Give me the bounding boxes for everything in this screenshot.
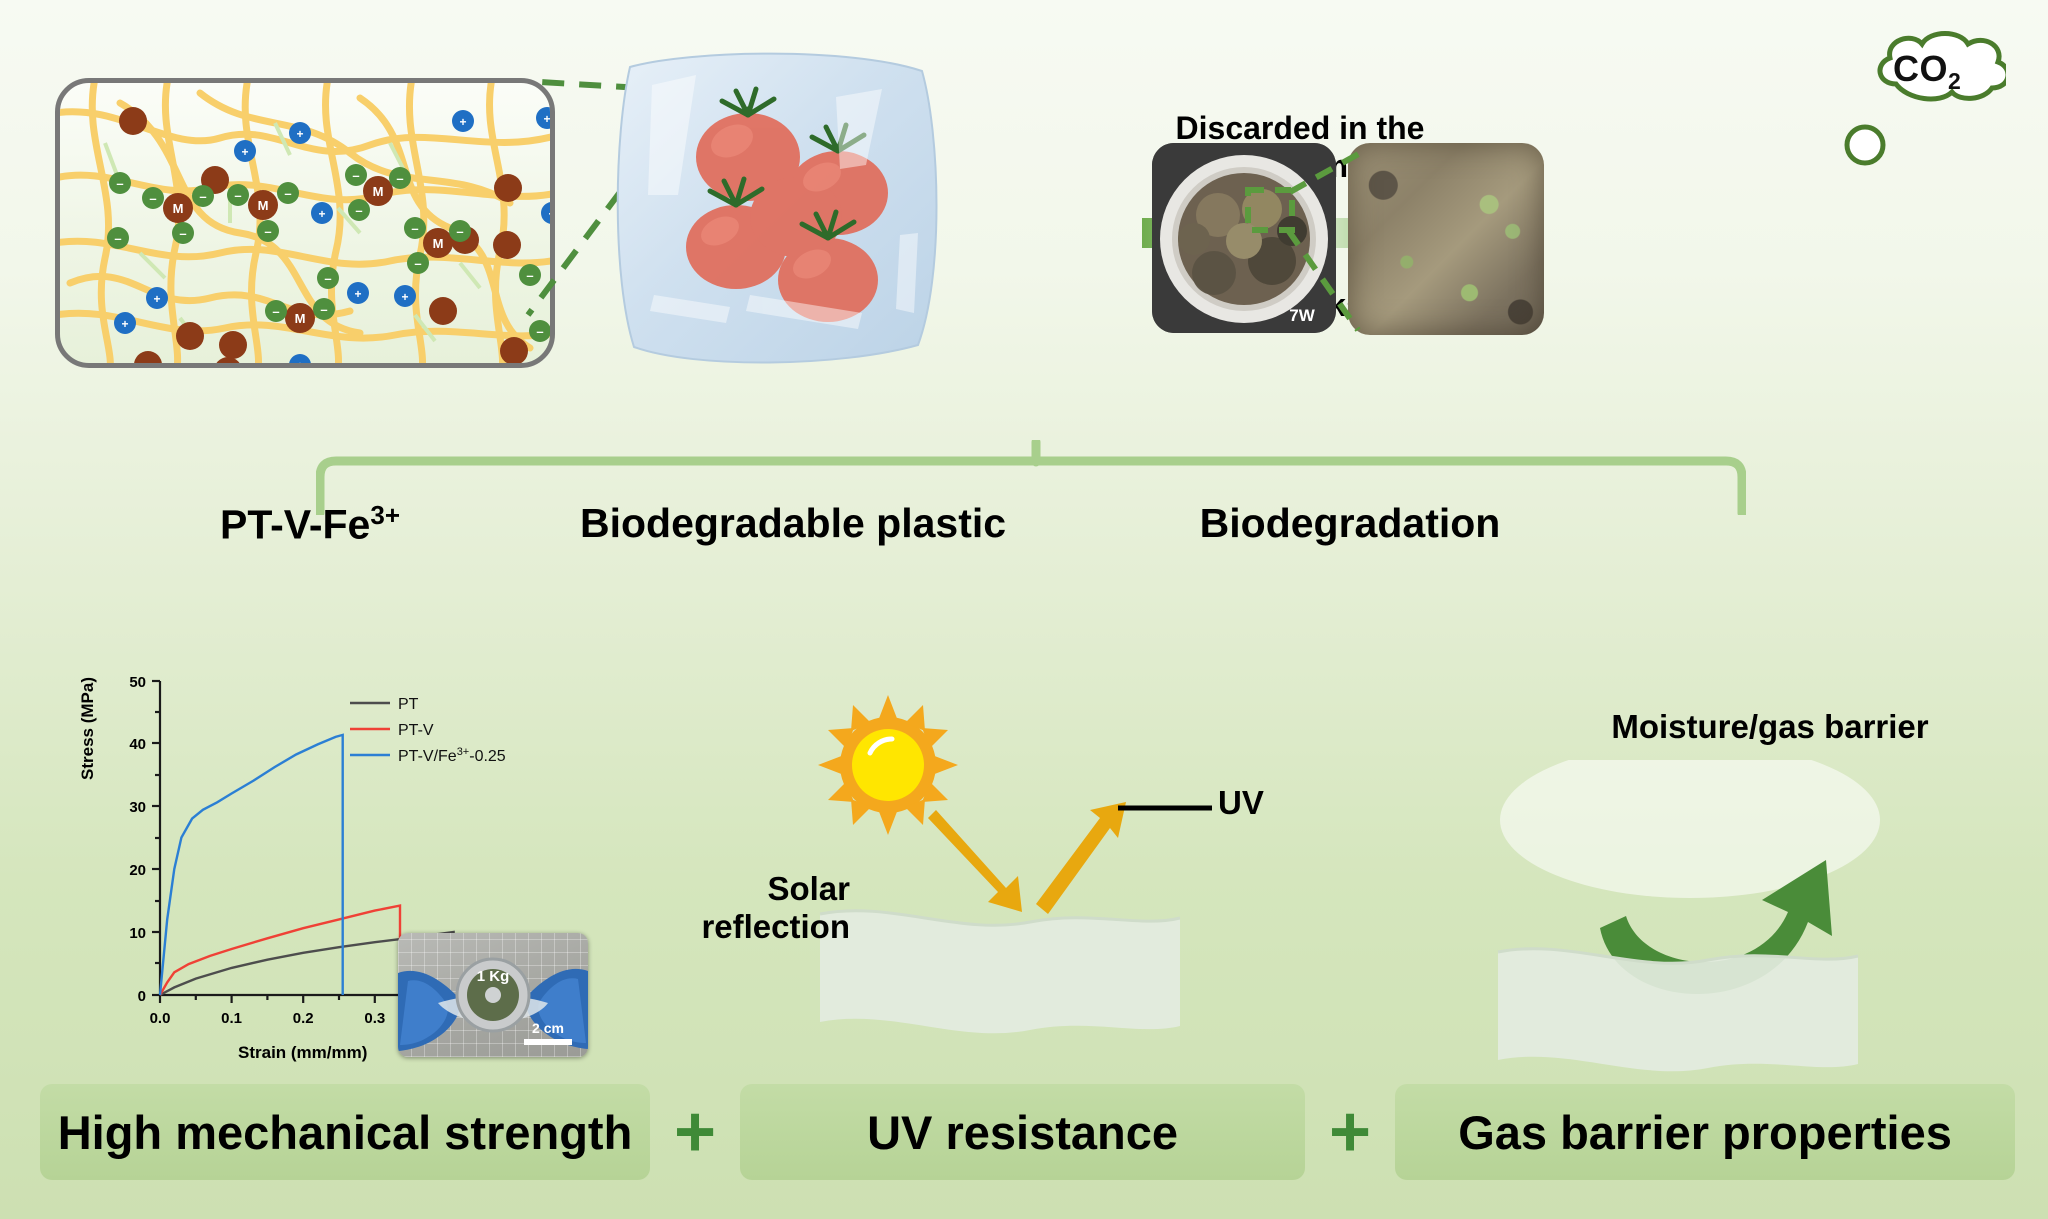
zoom-connector-right <box>1230 150 1400 340</box>
svg-text:0.1: 0.1 <box>221 1010 242 1025</box>
moisture-gas-barrier-label: Moisture/gas barrier <box>1520 708 2020 746</box>
svg-text:–: – <box>149 191 156 206</box>
chart-inset-photo: 1 Kg 2 cm <box>398 933 588 1057</box>
solar-reflection-label: Solar reflection <box>600 870 850 947</box>
svg-text:+: + <box>153 292 160 306</box>
svg-text:–: – <box>355 203 362 218</box>
svg-text:PT-V: PT-V <box>398 722 434 739</box>
svg-text:–: – <box>284 186 291 201</box>
svg-text:–: – <box>396 171 403 186</box>
svg-text:+: + <box>318 207 325 221</box>
network-structure-panel: M – – – M – – – M – – – M – – – M – – <box>55 78 555 368</box>
svg-text:–: – <box>320 302 327 317</box>
svg-text:–: – <box>324 271 331 286</box>
svg-text:+: + <box>296 127 303 141</box>
svg-text:10: 10 <box>129 925 146 942</box>
incoming-ray-arrow <box>928 810 1022 912</box>
svg-text:0.0: 0.0 <box>150 1010 171 1025</box>
svg-text:+: + <box>296 359 303 368</box>
gas-barrier-illustration: Moisture/gas barrier <box>1440 660 2000 1040</box>
tomato-bag-illustration <box>600 45 960 375</box>
svg-text:30: 30 <box>129 799 146 816</box>
co2-bubble-small-icon <box>1842 122 1888 168</box>
svg-text:0.3: 0.3 <box>364 1010 385 1025</box>
series-ptvfe-line <box>160 735 343 995</box>
svg-text:–: – <box>199 189 206 204</box>
plus-icon-2: + <box>1329 1107 1371 1157</box>
network-diagram: M – – – M – – – M – – – M – – – M – – <box>60 83 555 368</box>
svg-text:+: + <box>354 287 361 301</box>
svg-text:PT: PT <box>398 696 419 713</box>
co2-label: CO2 <box>1893 48 1961 95</box>
svg-text:M: M <box>433 236 444 251</box>
svg-text:M: M <box>258 198 269 213</box>
chart-ylabel: Stress (MPa) <box>78 677 98 780</box>
svg-text:–: – <box>234 188 241 203</box>
svg-text:0.2: 0.2 <box>293 1010 314 1025</box>
svg-text:–: – <box>272 304 279 319</box>
svg-text:–: – <box>116 176 123 191</box>
plus-icon-1: + <box>674 1107 716 1157</box>
bracket-stem <box>996 440 1076 480</box>
benefit-uv-resistance: UV resistance <box>740 1084 1305 1180</box>
series-ptv-line <box>160 906 400 995</box>
stress-strain-chart: 01020 304050 0.00.10.2 0.30.40.5 PT PT-V… <box>98 665 538 1025</box>
benefits-row: High mechanical strength + UV resistance… <box>40 1078 2015 1186</box>
svg-text:0: 0 <box>138 988 146 1005</box>
reflected-ray-arrow <box>1036 802 1126 914</box>
film-sheet <box>1498 949 1858 1072</box>
chart-xlabel: Strain (mm/mm) <box>238 1043 367 1063</box>
svg-text:M: M <box>295 311 306 326</box>
svg-text:–: – <box>411 221 418 236</box>
svg-text:PT-V/Fe3+-0.25: PT-V/Fe3+-0.25 <box>398 746 506 765</box>
svg-text:–: – <box>179 226 186 241</box>
chart-legend: PT PT-V PT-V/Fe3+-0.25 <box>350 696 506 765</box>
inset-weight-label: 1 Kg <box>477 968 510 985</box>
svg-text:M: M <box>373 184 384 199</box>
uv-resistance-illustration: Solar reflection UV <box>760 660 1320 1040</box>
svg-text:+: + <box>459 115 466 129</box>
svg-text:50: 50 <box>129 674 146 691</box>
svg-text:+: + <box>401 290 408 304</box>
svg-text:–: – <box>114 231 121 246</box>
benefit-gas-barrier: Gas barrier properties <box>1395 1084 2015 1180</box>
svg-text:+: + <box>241 145 248 159</box>
svg-text:–: – <box>352 168 359 183</box>
svg-text:20: 20 <box>129 862 146 879</box>
svg-text:40: 40 <box>129 736 146 753</box>
benefit-mechanical-strength: High mechanical strength <box>40 1084 650 1180</box>
svg-text:–: – <box>414 256 421 271</box>
inset-scale-label: 2 cm <box>532 1020 564 1036</box>
svg-text:M: M <box>173 201 184 216</box>
uv-label: UV <box>1218 784 1264 822</box>
svg-text:–: – <box>264 224 271 239</box>
film-sheet <box>820 911 1180 1034</box>
svg-text:–: – <box>456 224 463 239</box>
svg-text:+: + <box>121 317 128 331</box>
